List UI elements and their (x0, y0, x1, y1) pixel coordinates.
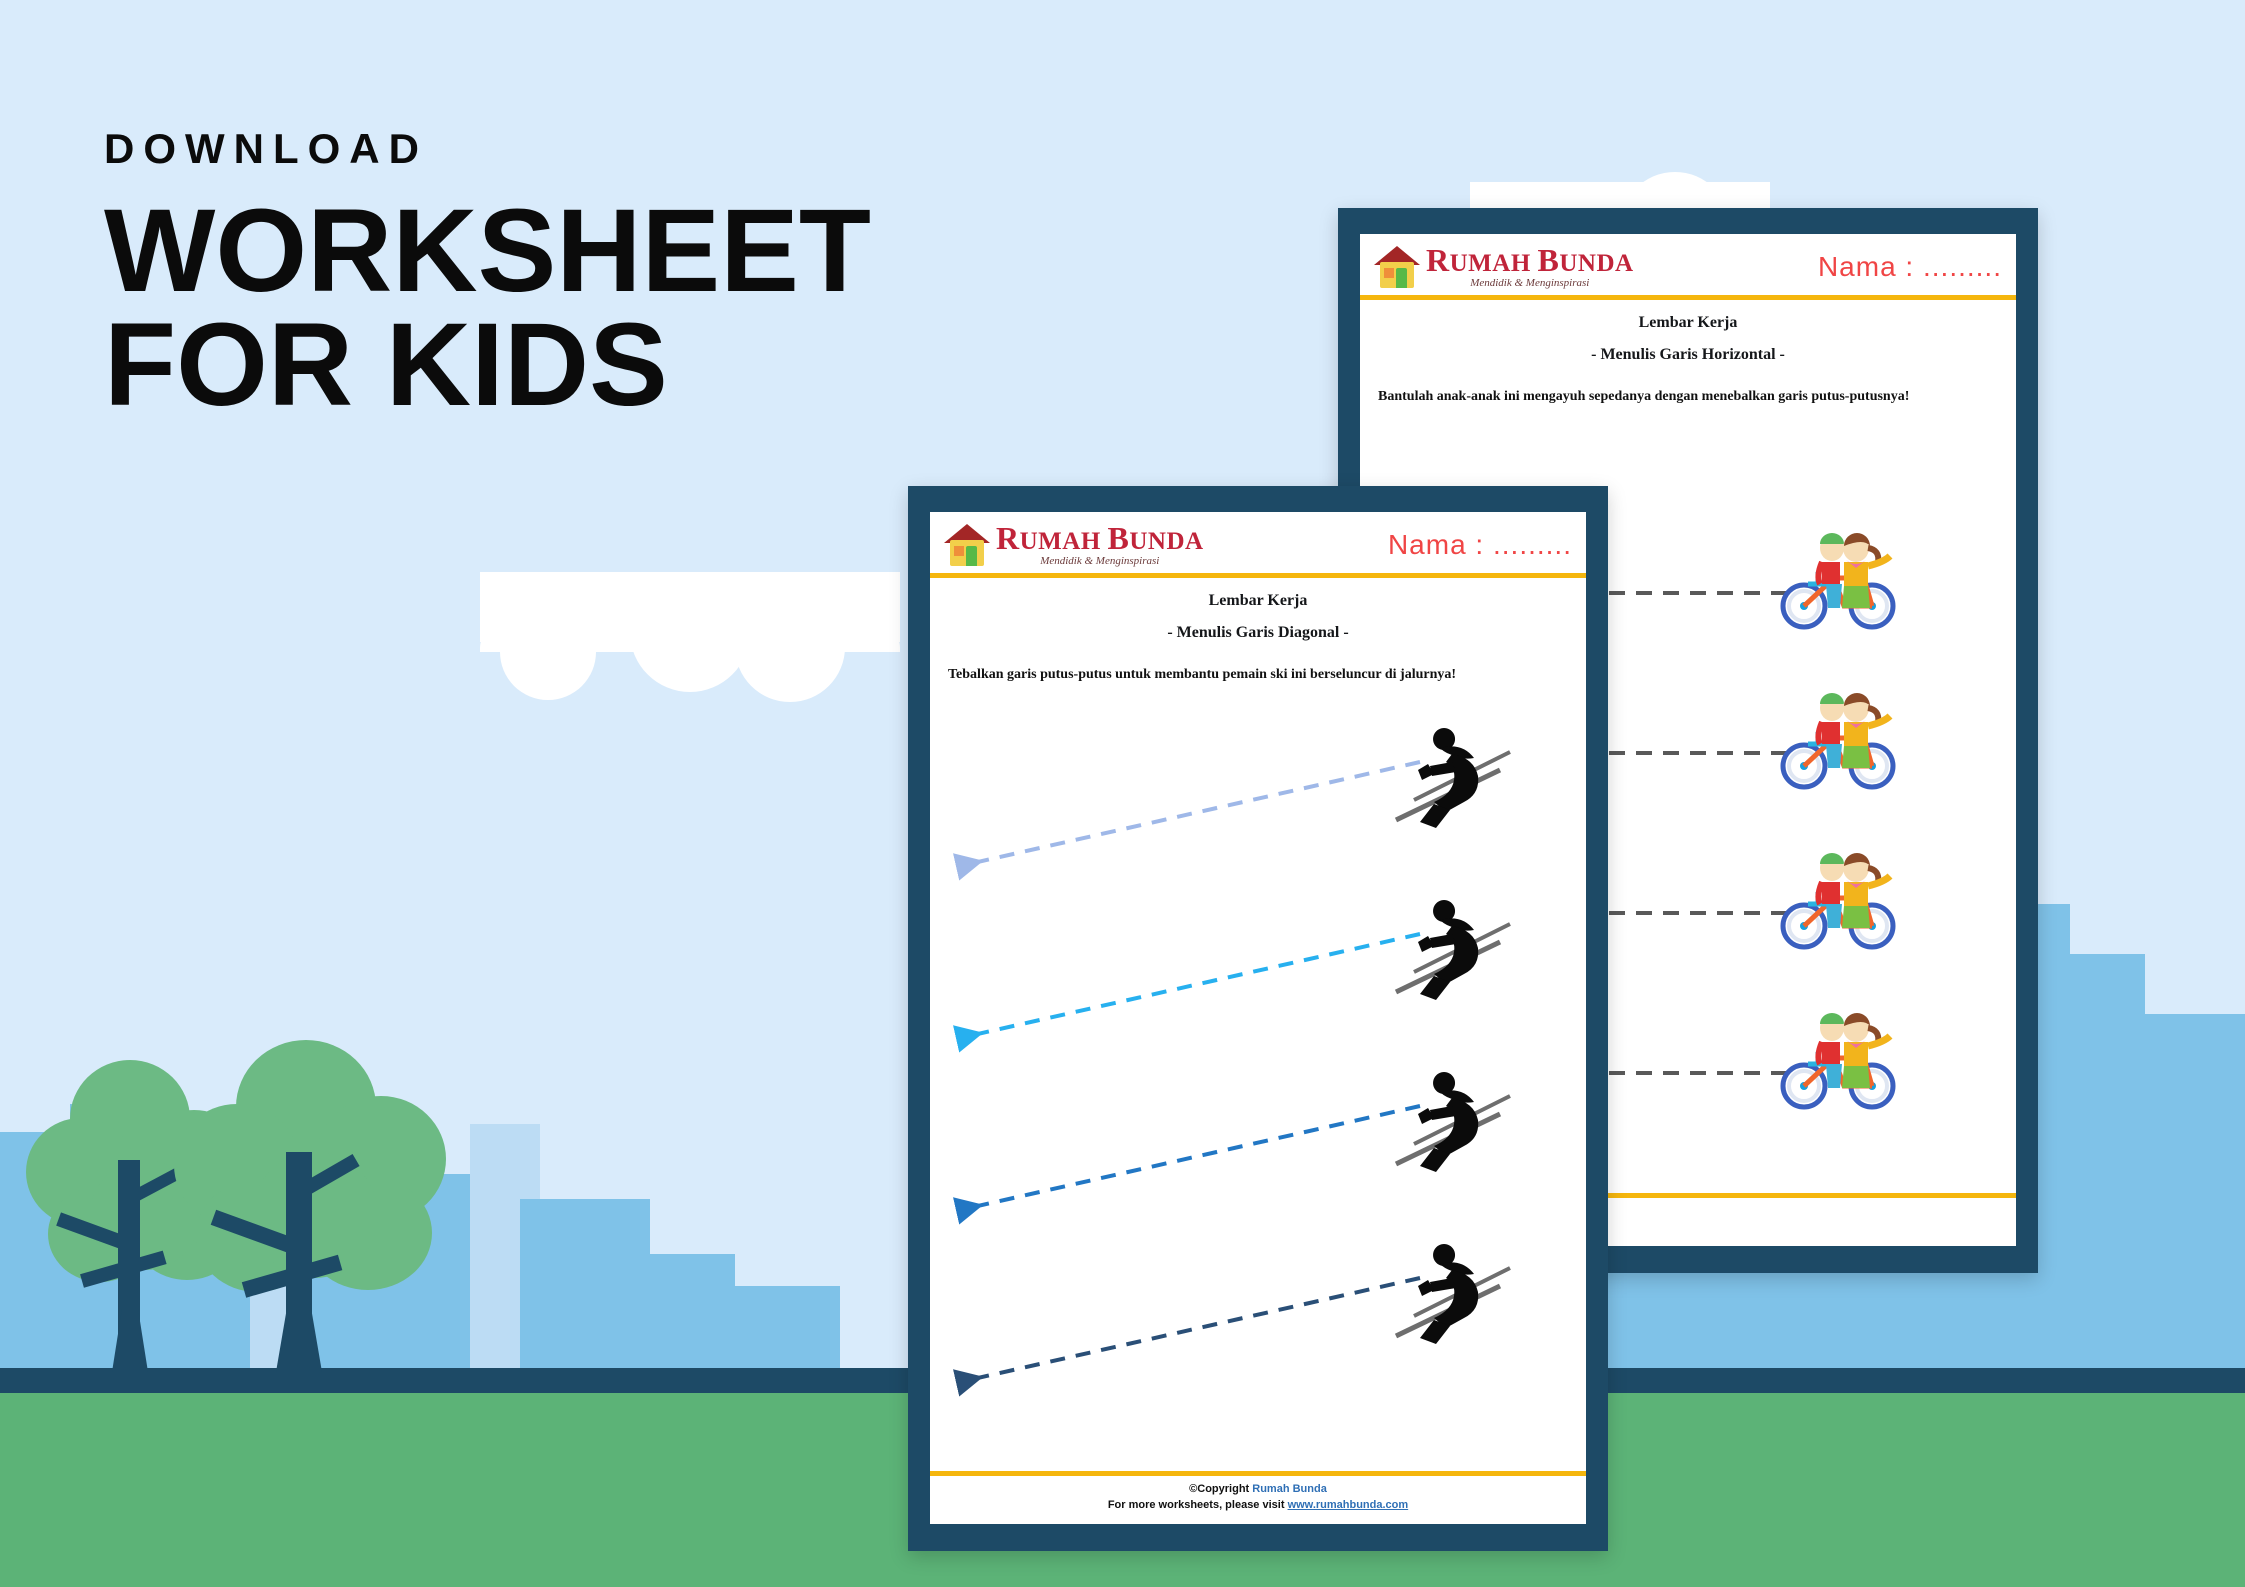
house-icon (944, 524, 990, 566)
tandem-bicycle-icon (1778, 692, 1852, 754)
worksheet-front-page: RUMAH BUNDA Mendidik & Menginspirasi Nam… (930, 512, 1586, 1524)
skier-icon (1390, 1078, 1474, 1140)
headline-line-1: WORKSHEET (104, 194, 1004, 308)
headline-block: DOWNLOAD WORKSHEET FOR KIDS (104, 128, 1004, 423)
gold-rule-front (930, 573, 1586, 578)
tandem-bicycle-icon (1778, 1012, 1852, 1074)
brand-tagline-front: Mendidik & Menginspirasi (996, 555, 1204, 567)
brand-name-front: RUMAH BUNDA (996, 522, 1204, 554)
practice-row[interactable] (930, 906, 1586, 1078)
worksheet-front-subtitle: - Menulis Garis Diagonal - (930, 624, 1586, 642)
name-field-back[interactable]: Nama : ......... (1818, 251, 2002, 283)
name-field-front[interactable]: Nama : ......... (1388, 529, 1572, 561)
cloud-left (480, 572, 900, 642)
worksheet-front-header: RUMAH BUNDA Mendidik & Menginspirasi Nam… (930, 512, 1586, 571)
dashed-line (960, 1106, 1420, 1210)
worksheet-front-instruction: Tebalkan garis putus-putus untuk membant… (948, 664, 1568, 685)
footer-url-front[interactable]: www.rumahbunda.com (1288, 1499, 1409, 1511)
brand-logo-front: RUMAH BUNDA Mendidik & Menginspirasi (944, 522, 1204, 567)
skier-icon (1390, 734, 1474, 796)
tandem-bicycle-icon (1778, 532, 1852, 594)
headline-line-2: FOR KIDS (104, 308, 1004, 422)
worksheet-back-instruction: Bantulah anak-anak ini mengayuh sepedany… (1378, 386, 1998, 407)
worksheet-front-rows (930, 734, 1586, 1424)
practice-row[interactable] (930, 1078, 1586, 1250)
house-icon (1374, 246, 1420, 288)
worksheet-back-header: RUMAH BUNDA Mendidik & Menginspirasi Nam… (1360, 234, 2016, 293)
footer-copyright-front: ©Copyright (1189, 1483, 1252, 1495)
footer-visit-front: For more worksheets, please visit (1108, 1499, 1288, 1511)
brand-name-back: RUMAH BUNDA (1426, 244, 1634, 276)
kicker-download: DOWNLOAD (104, 128, 1004, 170)
footer-text-front: ©Copyright Rumah Bunda For more workshee… (930, 1476, 1586, 1524)
worksheet-back-subtitle: - Menulis Garis Horizontal - (1360, 346, 2016, 364)
poster-canvas: DOWNLOAD WORKSHEET FOR KIDS RUMAH (0, 0, 2245, 1587)
dashed-line (960, 762, 1420, 866)
dashed-line (960, 934, 1420, 1038)
practice-row[interactable] (930, 1250, 1586, 1422)
gold-rule-back (1360, 295, 2016, 300)
practice-row[interactable] (930, 734, 1586, 906)
skier-icon (1390, 1250, 1474, 1312)
worksheet-back-title: Lembar Kerja (1360, 314, 2016, 332)
worksheet-front-title: Lembar Kerja (930, 592, 1586, 610)
footer-brand-front: Rumah Bunda (1252, 1483, 1327, 1495)
tandem-bicycle-icon (1778, 852, 1852, 914)
worksheet-front-frame[interactable]: RUMAH BUNDA Mendidik & Menginspirasi Nam… (908, 486, 1608, 1551)
skier-icon (1390, 906, 1474, 968)
worksheet-front-footer: ©Copyright Rumah Bunda For more workshee… (930, 1471, 1586, 1524)
brand-tagline-back: Mendidik & Menginspirasi (1426, 277, 1634, 289)
tree-right (170, 1040, 450, 1372)
brand-logo-back: RUMAH BUNDA Mendidik & Menginspirasi (1374, 244, 1634, 289)
dashed-line (960, 1278, 1420, 1382)
